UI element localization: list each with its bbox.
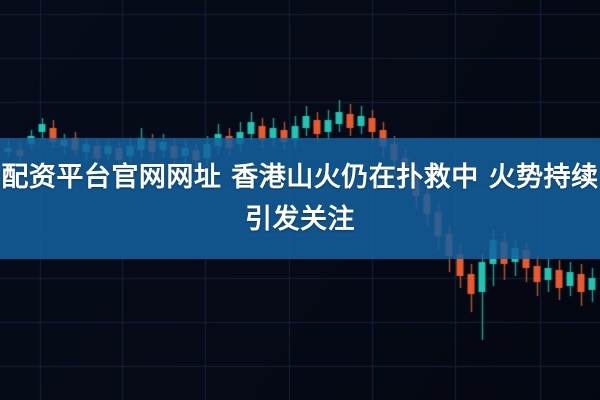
headline-line-2: 引发关注 (245, 199, 355, 241)
screenshot-root: 配资平台官网网址 香港山火仍在扑救中 火势持续 引发关注 (0, 0, 600, 400)
headline-line-1: 配资平台官网网址 香港山火仍在扑救中 火势持续 (1, 157, 598, 199)
headline-text-block: 配资平台官网网址 香港山火仍在扑救中 火势持续 引发关注 (0, 138, 600, 259)
